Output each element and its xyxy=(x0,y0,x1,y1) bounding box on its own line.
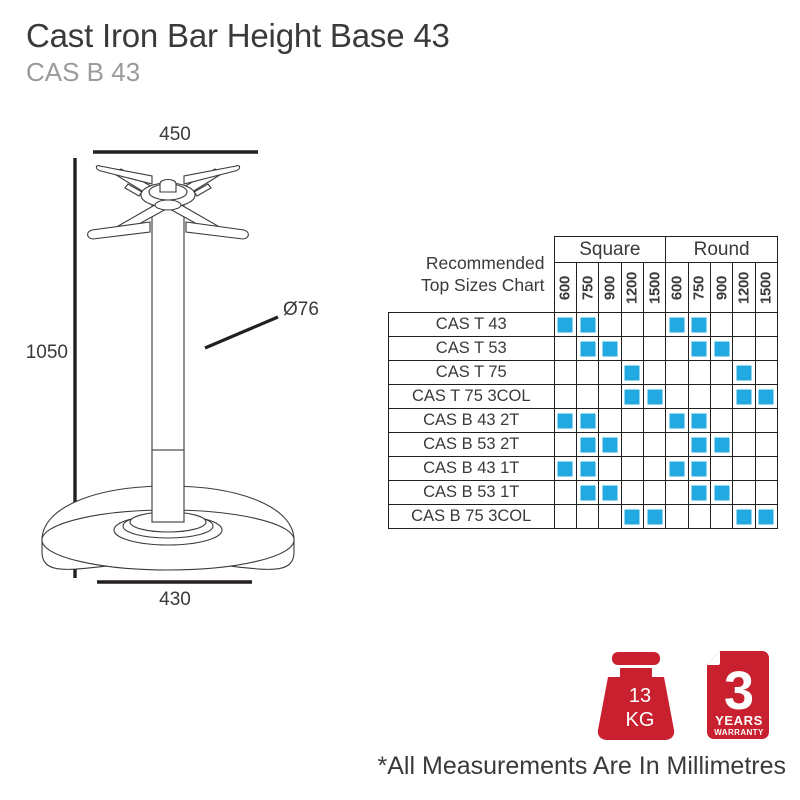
table-row: CAS T 53 xyxy=(389,337,778,361)
table-row: CAS B 53 1T xyxy=(389,481,778,505)
compatibility-mark xyxy=(714,437,729,452)
cell-round-600 xyxy=(666,337,688,361)
cell-round-1200 xyxy=(733,481,755,505)
dimension-label-diameter: Ø76 xyxy=(283,299,319,320)
cell-square-600 xyxy=(554,433,576,457)
cell-round-750 xyxy=(688,337,710,361)
cell-round-1200 xyxy=(733,361,755,385)
compatibility-mark xyxy=(580,317,595,332)
cell-square-900 xyxy=(599,361,621,385)
weight-icon: 13 KG xyxy=(590,650,682,745)
compatibility-mark xyxy=(736,509,751,524)
cell-round-1200 xyxy=(733,505,755,529)
size-header-square-900: 900 xyxy=(599,263,621,313)
size-header-square-1500: 1500 xyxy=(643,263,665,313)
compatibility-mark xyxy=(580,485,595,500)
compatibility-mark xyxy=(602,485,617,500)
compatibility-mark xyxy=(647,509,662,524)
cell-square-750 xyxy=(576,313,598,337)
size-header-label: 900 xyxy=(601,275,618,299)
weight-badge: 13 KG xyxy=(590,650,682,745)
cell-square-1500 xyxy=(643,409,665,433)
compatibility-mark xyxy=(602,437,617,452)
compatibility-mark xyxy=(736,389,751,404)
table-head: Recommended Top Sizes Chart Square Round… xyxy=(389,237,778,313)
cell-round-900 xyxy=(710,337,732,361)
cell-round-1200 xyxy=(733,409,755,433)
cell-round-600 xyxy=(666,457,688,481)
corner-label-line-2: Top Sizes Chart xyxy=(389,274,545,296)
table-body: CAS T 43CAS T 53CAS T 75CAS T 75 3COLCAS… xyxy=(389,313,778,529)
cell-round-900 xyxy=(710,361,732,385)
cell-square-900 xyxy=(599,409,621,433)
compatibility-mark xyxy=(558,413,573,428)
row-label-cas-b-53-1t: CAS B 53 1T xyxy=(389,481,555,505)
size-header-round-750: 750 xyxy=(688,263,710,313)
cell-square-1500 xyxy=(643,337,665,361)
cell-square-1200 xyxy=(621,457,643,481)
cell-square-750 xyxy=(576,361,598,385)
cell-square-600 xyxy=(554,457,576,481)
cell-square-1200 xyxy=(621,481,643,505)
cell-square-900 xyxy=(599,337,621,361)
cell-square-1200 xyxy=(621,505,643,529)
table-row: CAS B 53 2T xyxy=(389,433,778,457)
dimension-label-base-width: 430 xyxy=(159,589,191,610)
table-row: CAS T 43 xyxy=(389,313,778,337)
cell-square-750 xyxy=(576,433,598,457)
group-header-square: Square xyxy=(554,237,666,263)
page-header: Cast Iron Bar Height Base 43 CAS B 43 xyxy=(26,18,766,88)
cell-round-900 xyxy=(710,433,732,457)
size-header-label: 1500 xyxy=(758,271,775,303)
row-label-cas-b-43-1t: CAS B 43 1T xyxy=(389,457,555,481)
cell-round-750 xyxy=(688,361,710,385)
cell-round-1500 xyxy=(755,433,777,457)
cell-round-750 xyxy=(688,433,710,457)
cell-square-1500 xyxy=(643,505,665,529)
cell-square-600 xyxy=(554,409,576,433)
cell-square-600 xyxy=(554,481,576,505)
cell-round-1500 xyxy=(755,313,777,337)
cell-square-1200 xyxy=(621,361,643,385)
cell-square-750 xyxy=(576,409,598,433)
cell-round-900 xyxy=(710,505,732,529)
compatibility-mark xyxy=(647,389,662,404)
size-header-round-600: 600 xyxy=(666,263,688,313)
weight-unit: KG xyxy=(626,709,655,731)
size-header-square-600: 600 xyxy=(554,263,576,313)
cell-round-1500 xyxy=(755,337,777,361)
compatibility-mark xyxy=(692,485,707,500)
cell-round-750 xyxy=(688,313,710,337)
cell-square-1500 xyxy=(643,361,665,385)
cell-round-1500 xyxy=(755,409,777,433)
compatibility-mark xyxy=(580,413,595,428)
compatibility-mark xyxy=(625,389,640,404)
compatibility-mark xyxy=(714,485,729,500)
technical-drawing: 450 1050 430 xyxy=(0,110,380,620)
size-header-label: 750 xyxy=(579,275,596,299)
compatibility-mark xyxy=(602,341,617,356)
size-header-label: 600 xyxy=(668,275,685,299)
warranty-tag-icon: 3 YEARS WARRANTY xyxy=(698,645,778,745)
sizes-table: Recommended Top Sizes Chart Square Round… xyxy=(388,236,778,529)
warranty-line-2: WARRANTY xyxy=(714,728,764,737)
weight-value: 13 xyxy=(629,685,651,707)
row-label-cas-t-75: CAS T 75 xyxy=(389,361,555,385)
cell-round-600 xyxy=(666,385,688,409)
compatibility-mark xyxy=(692,437,707,452)
compatibility-mark xyxy=(625,509,640,524)
warranty-line-1: YEARS xyxy=(715,713,763,728)
compatibility-mark xyxy=(580,341,595,356)
cell-round-1500 xyxy=(755,505,777,529)
compatibility-mark xyxy=(714,341,729,356)
compatibility-mark xyxy=(558,317,573,332)
recommended-top-sizes-chart: Recommended Top Sizes Chart Square Round… xyxy=(388,236,778,523)
cell-square-600 xyxy=(554,361,576,385)
row-label-cas-b-43-2t: CAS B 43 2T xyxy=(389,409,555,433)
cell-square-750 xyxy=(576,505,598,529)
compatibility-mark xyxy=(736,365,751,380)
cell-square-1500 xyxy=(643,481,665,505)
row-label-cas-b-75-3col: CAS B 75 3COL xyxy=(389,505,555,529)
group-header-round: Round xyxy=(666,237,778,263)
compatibility-mark xyxy=(580,437,595,452)
cell-round-900 xyxy=(710,457,732,481)
cell-round-1200 xyxy=(733,313,755,337)
cell-square-1200 xyxy=(621,337,643,361)
dimension-label-top-width: 450 xyxy=(159,124,191,145)
table-row: CAS B 75 3COL xyxy=(389,505,778,529)
cell-round-1500 xyxy=(755,457,777,481)
compatibility-mark xyxy=(625,365,640,380)
size-header-label: 1200 xyxy=(735,271,752,303)
cell-square-600 xyxy=(554,385,576,409)
compatibility-mark xyxy=(692,317,707,332)
cell-square-1500 xyxy=(643,433,665,457)
cell-square-900 xyxy=(599,385,621,409)
compatibility-mark xyxy=(759,389,774,404)
size-header-square-750: 750 xyxy=(576,263,598,313)
compatibility-mark xyxy=(558,461,573,476)
row-label-cas-t-43: CAS T 43 xyxy=(389,313,555,337)
cell-square-1500 xyxy=(643,313,665,337)
size-header-label: 750 xyxy=(691,275,708,299)
compatibility-mark xyxy=(580,461,595,476)
cell-round-1500 xyxy=(755,385,777,409)
compatibility-mark xyxy=(759,509,774,524)
cell-square-1200 xyxy=(621,313,643,337)
size-header-label: 900 xyxy=(713,275,730,299)
cell-square-900 xyxy=(599,505,621,529)
size-header-round-1200: 1200 xyxy=(733,263,755,313)
cell-round-900 xyxy=(710,481,732,505)
cell-round-1200 xyxy=(733,457,755,481)
compatibility-mark xyxy=(669,413,684,428)
cell-round-600 xyxy=(666,433,688,457)
cell-round-750 xyxy=(688,505,710,529)
table-group-header-row: Recommended Top Sizes Chart Square Round xyxy=(389,237,778,263)
compatibility-mark xyxy=(692,341,707,356)
size-header-label: 1500 xyxy=(646,271,663,303)
product-code: CAS B 43 xyxy=(26,58,766,88)
row-label-cas-b-53-2t: CAS B 53 2T xyxy=(389,433,555,457)
cell-round-600 xyxy=(666,361,688,385)
cell-square-1200 xyxy=(621,409,643,433)
cell-square-600 xyxy=(554,505,576,529)
cell-round-900 xyxy=(710,409,732,433)
cell-round-1200 xyxy=(733,385,755,409)
cell-round-750 xyxy=(688,409,710,433)
leader-line-diameter xyxy=(205,317,278,348)
size-header-square-1200: 1200 xyxy=(621,263,643,313)
cell-round-1500 xyxy=(755,361,777,385)
compatibility-mark xyxy=(692,461,707,476)
table-row: CAS B 43 2T xyxy=(389,409,778,433)
cell-square-1500 xyxy=(643,457,665,481)
table-row: CAS T 75 3COL xyxy=(389,385,778,409)
cell-round-1200 xyxy=(733,433,755,457)
row-label-cas-t-53: CAS T 53 xyxy=(389,337,555,361)
corner-label-line-1: Recommended xyxy=(389,252,545,274)
drawing-svg: 450 1050 430 xyxy=(0,110,380,620)
row-label-cas-t-75-3col: CAS T 75 3COL xyxy=(389,385,555,409)
cell-round-1500 xyxy=(755,481,777,505)
cell-square-1200 xyxy=(621,433,643,457)
dimension-label-height: 1050 xyxy=(26,342,68,363)
cell-round-750 xyxy=(688,457,710,481)
table-row: CAS B 43 1T xyxy=(389,457,778,481)
cell-round-900 xyxy=(710,385,732,409)
cell-square-750 xyxy=(576,481,598,505)
cell-round-1200 xyxy=(733,337,755,361)
cell-round-750 xyxy=(688,481,710,505)
compatibility-mark xyxy=(669,317,684,332)
cell-round-600 xyxy=(666,313,688,337)
measurement-footnote: *All Measurements Are In Millimetres xyxy=(0,752,786,781)
page-title: Cast Iron Bar Height Base 43 xyxy=(26,18,766,55)
size-header-round-1500: 1500 xyxy=(755,263,777,313)
size-header-round-900: 900 xyxy=(710,263,732,313)
cell-square-750 xyxy=(576,385,598,409)
cell-square-1200 xyxy=(621,385,643,409)
badge-group: 13 KG 3 YEARS WARRANTY xyxy=(590,645,790,750)
size-header-label: 600 xyxy=(557,275,574,299)
chart-corner-label: Recommended Top Sizes Chart xyxy=(389,237,555,313)
cell-square-900 xyxy=(599,433,621,457)
column-lower-section xyxy=(152,450,184,522)
cell-round-900 xyxy=(710,313,732,337)
size-header-label: 1200 xyxy=(624,271,641,303)
cell-square-600 xyxy=(554,337,576,361)
warranty-badge: 3 YEARS WARRANTY xyxy=(698,645,778,745)
cell-square-900 xyxy=(599,313,621,337)
compatibility-mark xyxy=(692,413,707,428)
cell-round-600 xyxy=(666,481,688,505)
cell-round-750 xyxy=(688,385,710,409)
cell-square-750 xyxy=(576,337,598,361)
cell-square-750 xyxy=(576,457,598,481)
warranty-number: 3 xyxy=(724,661,754,721)
cell-square-900 xyxy=(599,481,621,505)
cell-square-900 xyxy=(599,457,621,481)
cell-round-600 xyxy=(666,409,688,433)
cell-square-600 xyxy=(554,313,576,337)
compatibility-mark xyxy=(669,461,684,476)
table-row: CAS T 75 xyxy=(389,361,778,385)
cell-square-1500 xyxy=(643,385,665,409)
cell-round-600 xyxy=(666,505,688,529)
